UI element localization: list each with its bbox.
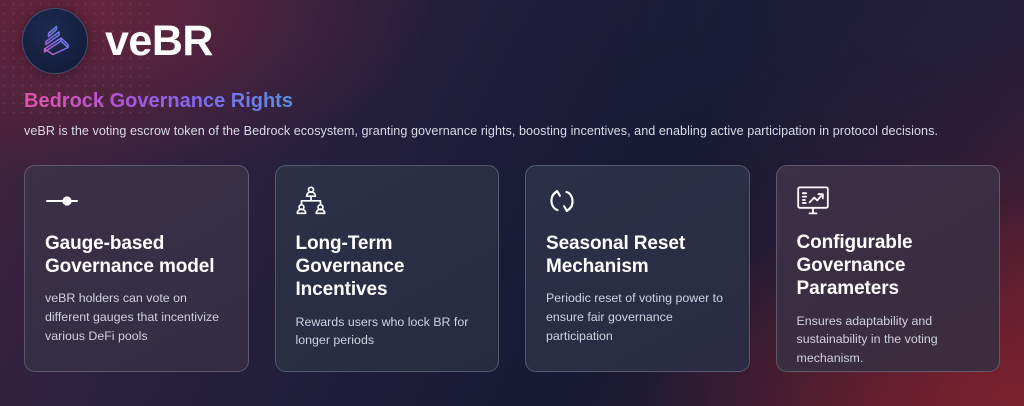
slider-gauge-icon bbox=[45, 186, 228, 216]
brand-title: veBR bbox=[105, 20, 213, 63]
feature-card-configurable-parameters[interactable]: Configurable Governance Parameters Ensur… bbox=[776, 165, 1001, 372]
card-description: Ensures adaptability and sustainability … bbox=[797, 312, 980, 369]
card-title: Long-Term Governance Incentives bbox=[296, 232, 479, 302]
feature-card-gauge-governance[interactable]: Gauge-based Governance model veBR holder… bbox=[24, 165, 249, 372]
feature-card-seasonal-reset[interactable]: Seasonal Reset Mechanism Periodic reset … bbox=[525, 165, 750, 372]
page-root: veBR Bedrock Governance Rights veBR is t… bbox=[0, 0, 1024, 406]
card-description: Rewards users who lock BR for longer per… bbox=[296, 313, 479, 351]
feature-card-longterm-incentives[interactable]: Long-Term Governance Incentives Rewards … bbox=[275, 165, 500, 372]
card-title: Gauge-based Governance model bbox=[45, 232, 228, 278]
card-description: veBR holders can vote on different gauge… bbox=[45, 289, 228, 346]
org-chart-hierarchy-icon bbox=[296, 186, 479, 216]
card-title: Configurable Governance Parameters bbox=[797, 231, 980, 301]
section-description: veBR is the voting escrow token of the B… bbox=[24, 122, 1004, 140]
page-header: veBR bbox=[22, 8, 213, 74]
refresh-cycle-arrows-icon bbox=[546, 186, 729, 216]
intro-section: Bedrock Governance Rights veBR is the vo… bbox=[24, 88, 1004, 140]
card-title: Seasonal Reset Mechanism bbox=[546, 232, 729, 278]
bedrock-layers-logo-icon bbox=[35, 21, 75, 61]
feature-cards-grid: Gauge-based Governance model veBR holder… bbox=[24, 165, 1000, 372]
card-description: Periodic reset of voting power to ensure… bbox=[546, 289, 729, 346]
brand-logo-badge bbox=[22, 8, 88, 74]
section-title: Bedrock Governance Rights bbox=[24, 88, 293, 114]
monitor-chart-icon bbox=[797, 186, 980, 215]
